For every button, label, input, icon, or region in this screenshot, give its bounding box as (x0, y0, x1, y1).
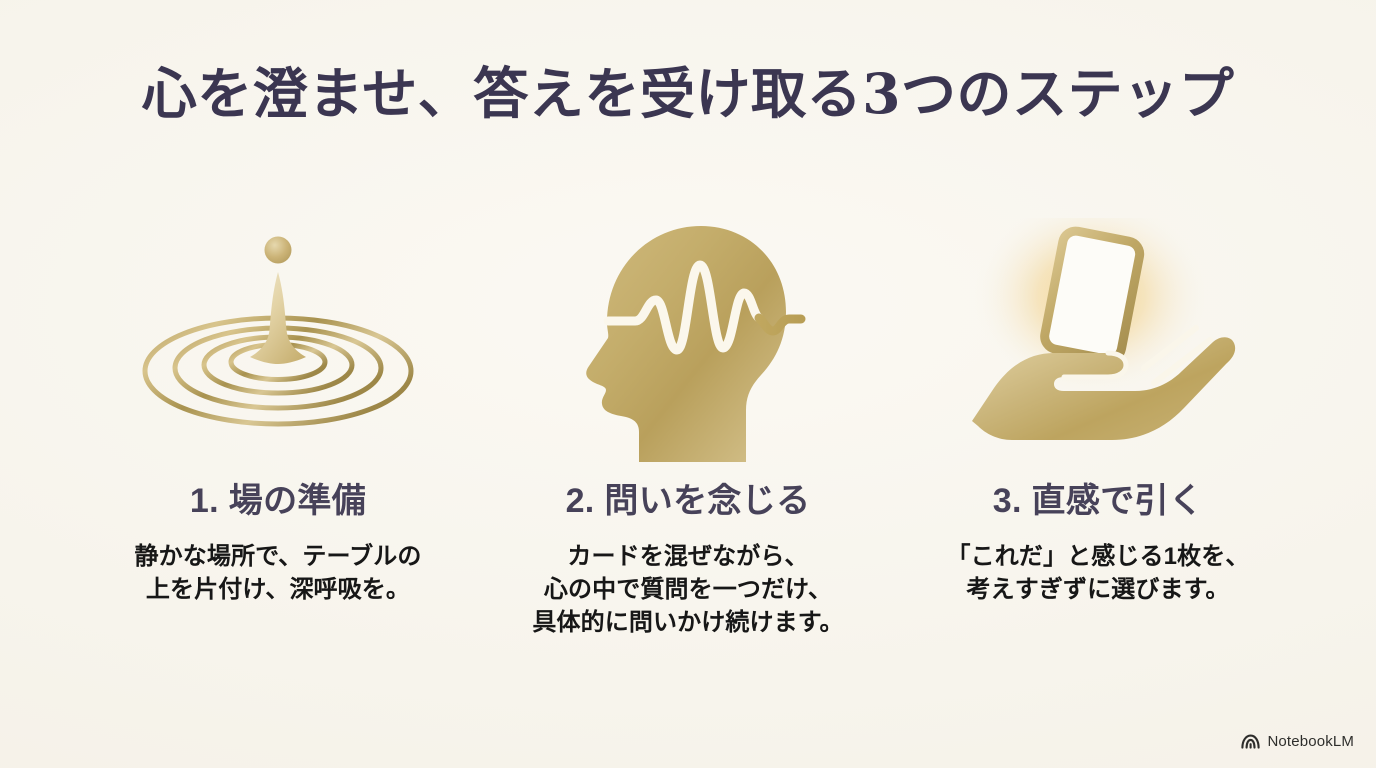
step-card-3: 3. 直感で引く 「これだ」と感じる1枚を、 考えすぎずに選びます。 (893, 210, 1303, 606)
step-body-line: 考えすぎずに選びます。 (947, 573, 1250, 606)
step-body-line: 静かな場所で、テーブルの (134, 540, 421, 573)
slide-canvas: 心を澄ませ、答えを受け取る3つのステップ (0, 0, 1376, 768)
step-body-line: 上を片付け、深呼吸を。 (134, 573, 421, 606)
head-profile-brainwave-icon (538, 210, 838, 475)
notebooklm-watermark: NotebookLM (1241, 733, 1354, 750)
step-title-3: 3. 直感で引く (993, 481, 1204, 522)
step-title-1: 1. 場の準備 (190, 481, 366, 522)
step-card-2: 2. 問いを念じる カードを混ぜながら、 心の中で質問を一つだけ、 具体的に問い… (483, 210, 893, 639)
notebooklm-logo-icon (1241, 734, 1260, 749)
step-title-2: 2. 問いを念じる (566, 481, 811, 522)
notebooklm-label: NotebookLM (1267, 733, 1354, 750)
water-drop-ripple-icon (128, 210, 428, 475)
step-body-3: 「これだ」と感じる1枚を、 考えすぎずに選びます。 (947, 540, 1250, 606)
step-card-1: 1. 場の準備 静かな場所で、テーブルの 上を片付け、深呼吸を。 (73, 210, 483, 606)
page-title: 心を澄ませ、答えを受け取る3つのステップ (0, 62, 1376, 125)
step-body-line: 具体的に問いかけ続けます。 (532, 606, 843, 639)
step-body-line: 「これだ」と感じる1枚を、 (947, 540, 1250, 573)
step-body-line: 心の中で質問を一つだけ、 (532, 573, 843, 606)
step-body-2: カードを混ぜながら、 心の中で質問を一つだけ、 具体的に問いかけ続けます。 (532, 540, 843, 639)
step-body-1: 静かな場所で、テーブルの 上を片付け、深呼吸を。 (134, 540, 421, 606)
hand-holding-glowing-card-icon (948, 210, 1248, 475)
step-body-line: カードを混ぜながら、 (532, 540, 843, 573)
steps-row: 1. 場の準備 静かな場所で、テーブルの 上を片付け、深呼吸を。 (0, 210, 1376, 639)
